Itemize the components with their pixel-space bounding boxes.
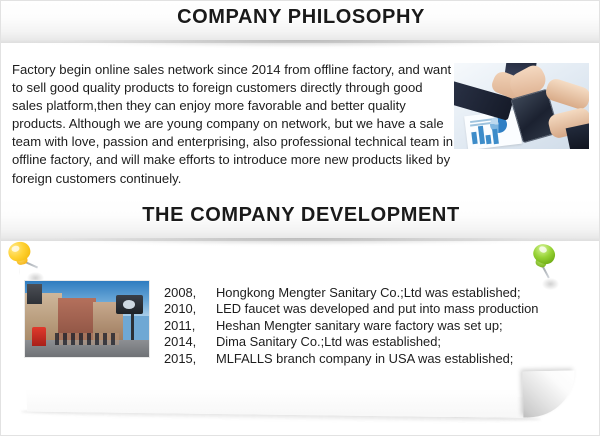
milestone-text: LED faucet was developed and put into ma… — [216, 301, 538, 317]
photo-telephone-booth — [32, 327, 46, 347]
company-profile-page: COMPANY PHILOSOPHY Factory begin online … — [0, 0, 600, 436]
pushpin-left-icon — [5, 238, 42, 278]
milestone-row: 2010, LED faucet was developed and put i… — [164, 301, 564, 317]
milestone-row: 2011, Heshan Mengter sanitary ware facto… — [164, 318, 564, 334]
milestone-year: 2010, — [164, 301, 216, 317]
city-street-photo — [24, 280, 150, 358]
development-banner: THE COMPANY DEVELOPMENT — [1, 199, 600, 247]
milestone-year: 2008, — [164, 285, 216, 301]
photo-bar-3 — [485, 135, 491, 145]
milestone-text: Dima Sanitary Co.;Ltd was established; — [216, 334, 441, 350]
banner-shadow — [1, 40, 600, 52]
milestone-text: Heshan Mengter sanitary ware factory was… — [216, 318, 503, 334]
milestone-text: MLFALLS branch company in USA was establ… — [216, 351, 513, 367]
business-handshake-photo — [454, 63, 589, 149]
philosophy-banner: COMPANY PHILOSOPHY — [1, 1, 600, 49]
page-curl-corner — [523, 371, 576, 418]
milestone-row: 2008, Hongkong Mengter Sanitary Co.;Ltd … — [164, 285, 564, 301]
development-area: 2008, Hongkong Mengter Sanitary Co.;Ltd … — [1, 241, 600, 436]
milestone-text: Hongkong Mengter Sanitary Co.;Ltd was es… — [216, 285, 521, 301]
photo-pedestrians — [55, 333, 119, 345]
philosophy-paragraph-container: Factory begin online sales network since… — [12, 61, 454, 188]
milestone-year: 2015, — [164, 351, 216, 367]
milestone-row: 2015, MLFALLS branch company in USA was … — [164, 351, 564, 367]
philosophy-paragraph: Factory begin online sales network since… — [12, 61, 454, 188]
development-title: THE COMPANY DEVELOPMENT — [1, 204, 600, 227]
milestone-year: 2014, — [164, 334, 216, 350]
photo-tower — [27, 284, 42, 304]
milestone-year: 2011, — [164, 318, 216, 334]
development-milestone-list: 2008, Hongkong Mengter Sanitary Co.;Ltd … — [164, 285, 564, 367]
milestone-row: 2014, Dima Sanitary Co.;Ltd was establis… — [164, 334, 564, 350]
pushpin-head — [6, 240, 32, 264]
philosophy-title: COMPANY PHILOSOPHY — [1, 6, 600, 29]
